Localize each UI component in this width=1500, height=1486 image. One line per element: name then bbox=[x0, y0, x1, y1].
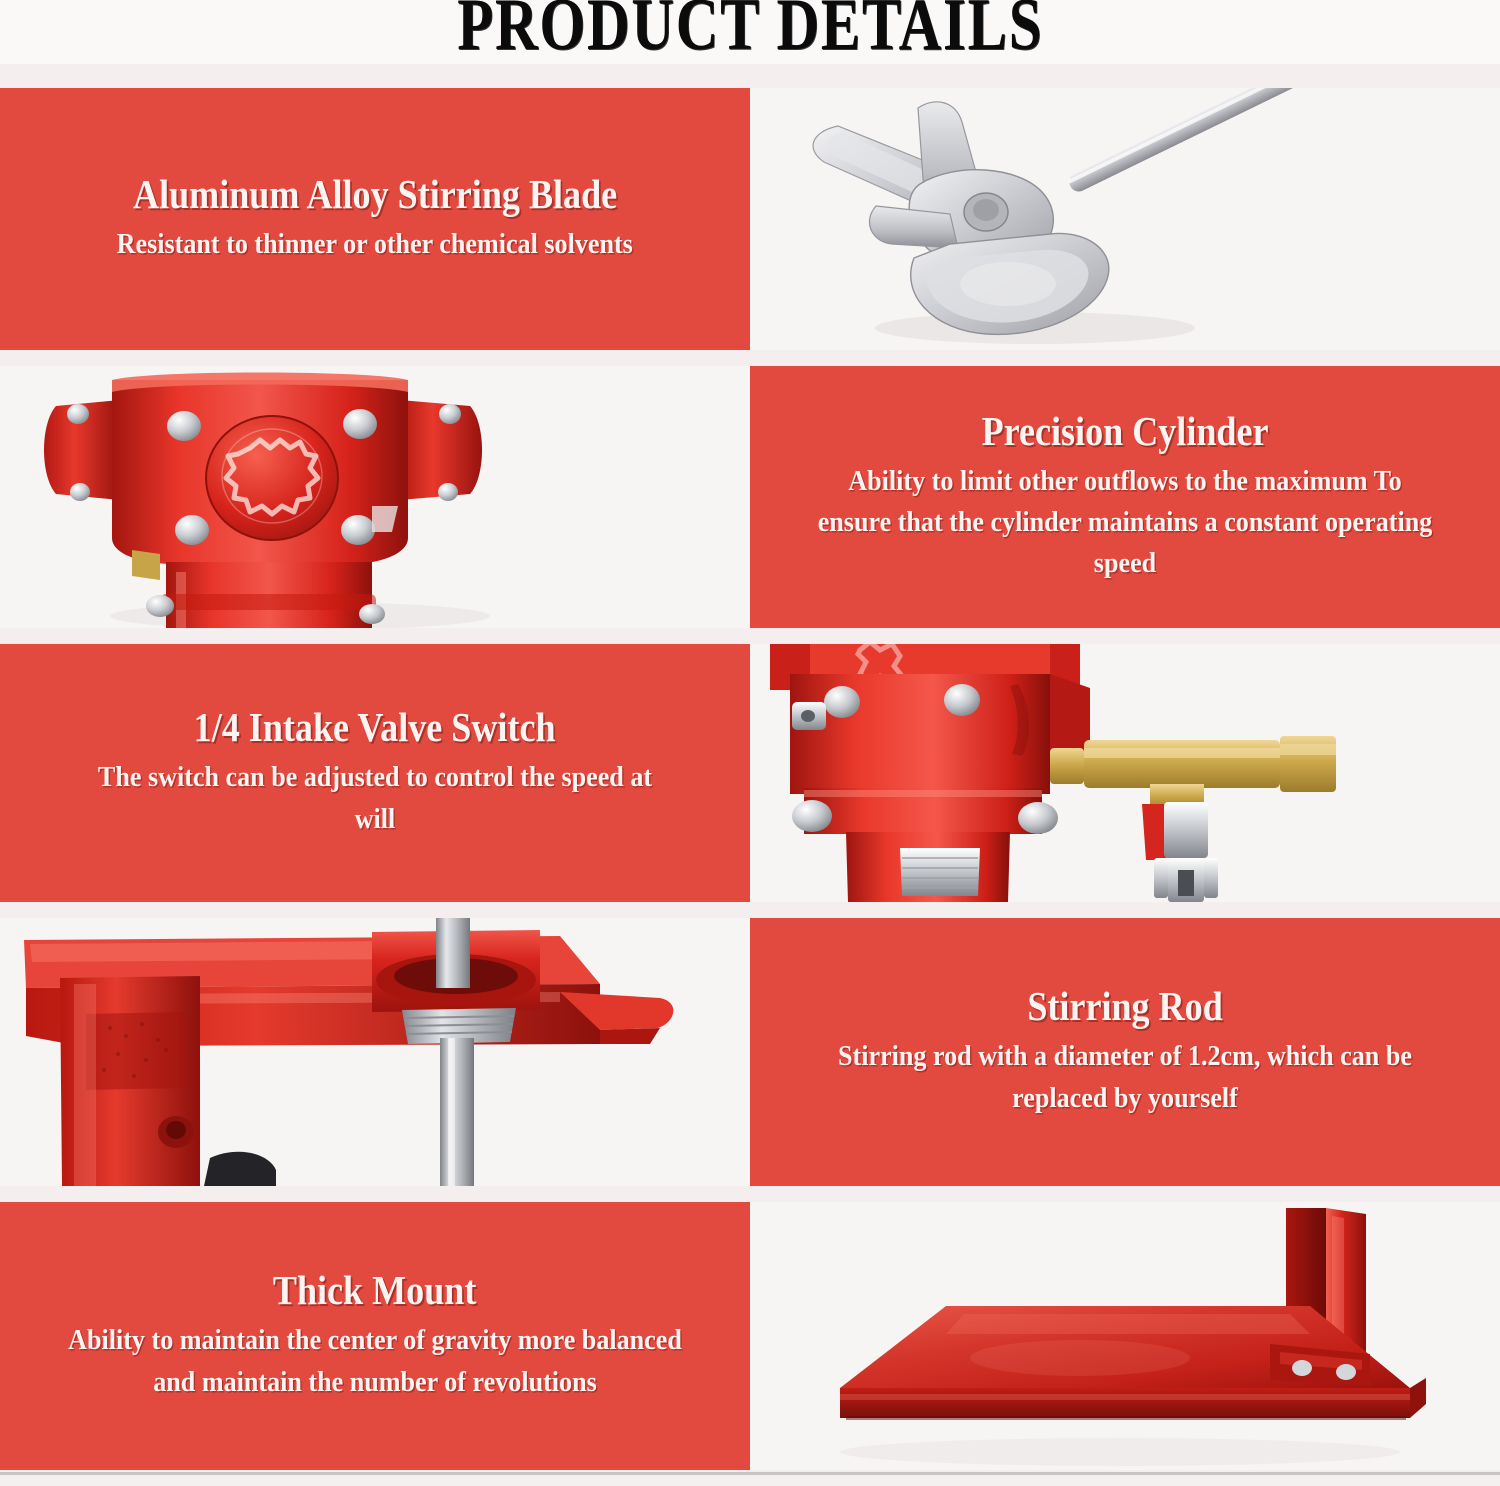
panel-headline: Stirring Rod bbox=[1027, 985, 1222, 1028]
base-plate-illustration bbox=[750, 1202, 1500, 1470]
stirring-blade-illustration bbox=[750, 88, 1500, 350]
panel-text-intake-valve: 1/4 Intake Valve Switch The switch can b… bbox=[0, 644, 750, 902]
precision-cylinder-illustration bbox=[0, 366, 750, 628]
panel-text-thick-mount: Thick Mount Ability to maintain the cent… bbox=[0, 1202, 750, 1470]
product-details-page: PRODUCT DETAILS Aluminum Alloy Stirring … bbox=[0, 0, 1500, 1475]
panel-headline: Aluminum Alloy Stirring Blade bbox=[133, 173, 617, 216]
detail-row-thick-mount: Thick Mount Ability to maintain the cent… bbox=[0, 1202, 1500, 1470]
detail-row-stirring-blade: Aluminum Alloy Stirring Blade Resistant … bbox=[0, 88, 1500, 350]
precision-cylinder-photo bbox=[0, 366, 750, 628]
panel-text-precision-cylinder: Precision Cylinder Ability to limit othe… bbox=[750, 366, 1500, 628]
panel-text-stirring-rod: Stirring Rod Stirring rod with a diamete… bbox=[750, 918, 1500, 1186]
detail-row-intake-valve: 1/4 Intake Valve Switch The switch can b… bbox=[0, 644, 1500, 902]
panel-body: Stirring rod with a diameter of 1.2cm, w… bbox=[811, 1036, 1439, 1118]
detail-row-precision-cylinder: Precision Cylinder Ability to limit othe… bbox=[0, 366, 1500, 628]
intake-valve-illustration bbox=[750, 644, 1500, 902]
page-title: PRODUCT DETAILS bbox=[457, 0, 1043, 68]
aluminum-stirring-blade-photo bbox=[750, 88, 1500, 350]
stirring-rod-mount-photo bbox=[0, 918, 750, 1186]
panel-headline: 1/4 Intake Valve Switch bbox=[194, 706, 556, 749]
panel-body: Resistant to thinner or other chemical s… bbox=[117, 224, 633, 265]
thick-mount-base-photo bbox=[750, 1202, 1500, 1470]
panel-text-stirring-blade: Aluminum Alloy Stirring Blade Resistant … bbox=[0, 88, 750, 350]
mount-bracket-illustration bbox=[0, 918, 750, 1186]
detail-row-stirring-rod: Stirring Rod Stirring rod with a diamete… bbox=[0, 918, 1500, 1186]
panel-body: The switch can be adjusted to control th… bbox=[78, 757, 672, 839]
page-title-bar: PRODUCT DETAILS bbox=[0, 0, 1500, 64]
panel-headline: Thick Mount bbox=[273, 1269, 477, 1312]
panel-body: Ability to limit other outflows to the m… bbox=[811, 461, 1439, 585]
intake-valve-switch-photo bbox=[750, 644, 1500, 902]
panel-headline: Precision Cylinder bbox=[982, 410, 1269, 453]
details-grid: Aluminum Alloy Stirring Blade Resistant … bbox=[0, 88, 1500, 1486]
panel-body: Ability to maintain the center of gravit… bbox=[61, 1320, 689, 1402]
